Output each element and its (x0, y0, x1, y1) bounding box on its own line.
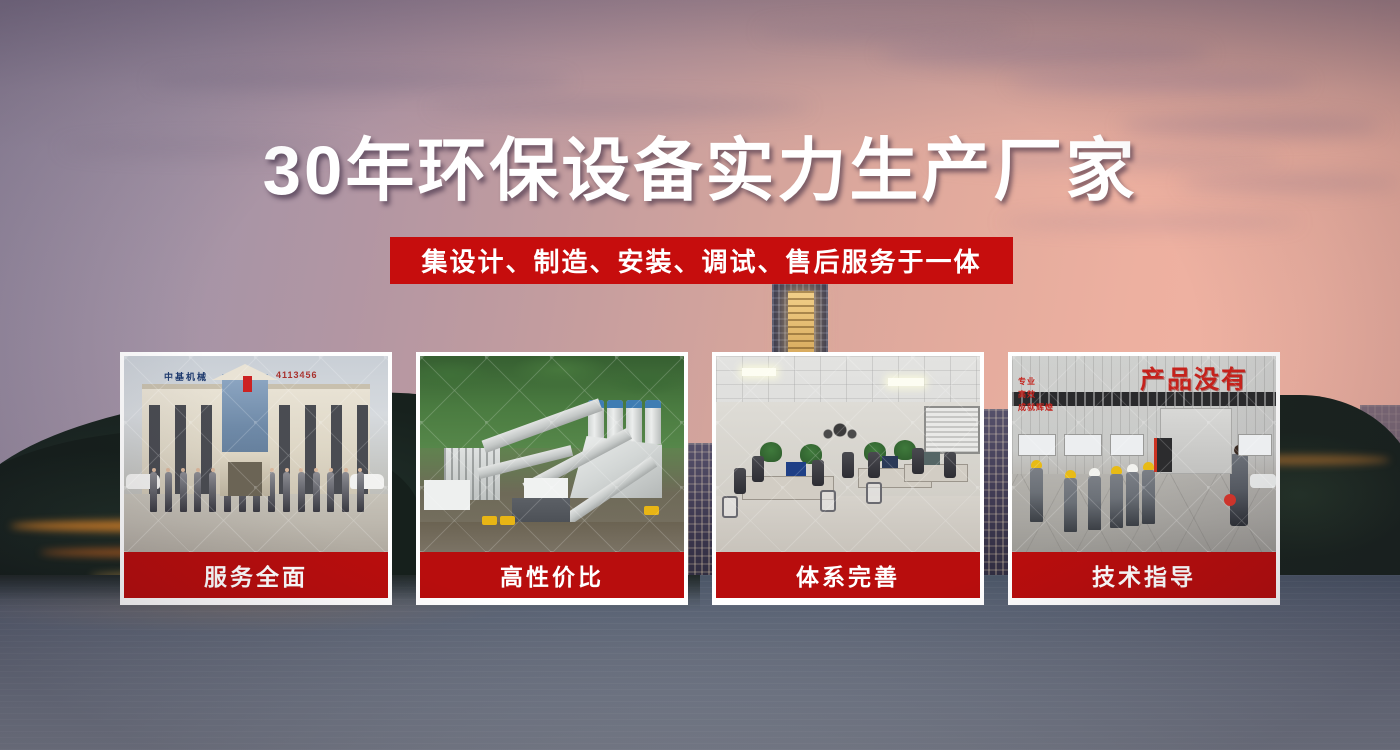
staff-member (298, 472, 305, 512)
card-caption: 服务全面 (124, 552, 388, 598)
seated-employee (812, 460, 824, 486)
worker (1088, 476, 1101, 530)
hero-banner: 30年环保设备实力生产厂家 集设计、制造、安装、调试、售后服务于一体 中基机械 … (0, 0, 1400, 750)
factory-window (1238, 434, 1272, 456)
plant-office-block (524, 478, 568, 498)
office-chair (820, 490, 836, 512)
computer-monitor (922, 452, 940, 465)
computer-monitor (786, 462, 806, 476)
red-helmet-icon (1224, 494, 1236, 506)
feature-card[interactable]: 专业 高效 成就辉煌 产品没有 (1008, 352, 1280, 605)
seated-employee (868, 452, 880, 478)
building-sign-text: 中基机械 (164, 370, 208, 383)
staff-member (150, 472, 157, 512)
wall-slogan-small-3: 成就辉煌 (1018, 403, 1054, 412)
wall-decal (820, 414, 860, 446)
subtitle-text: 集设计、制造、安装、调试、售后服务于一体 (421, 242, 981, 279)
aerial-production-plant-photo (420, 356, 684, 552)
worker (1126, 472, 1139, 526)
worker (1030, 468, 1043, 522)
card-caption: 高性价比 (420, 552, 684, 598)
excavator (482, 516, 497, 525)
seated-employee (912, 448, 924, 474)
factory-side-door (1154, 438, 1172, 472)
staff-member (180, 472, 187, 512)
factory-window (1018, 434, 1056, 456)
cloud-streak (1000, 215, 1300, 229)
card-caption: 技术指导 (1012, 552, 1276, 598)
office-floor (716, 496, 980, 552)
staff-member (194, 472, 201, 512)
seated-employee (752, 456, 764, 482)
staff-member (283, 472, 290, 512)
wall-slogan-small-1: 专业 (1018, 377, 1036, 386)
building-entrance (220, 452, 270, 496)
staff-member (357, 472, 364, 512)
worker (1064, 478, 1077, 532)
national-flag-icon (243, 376, 252, 392)
ceiling-light (888, 378, 924, 386)
factory-yard-workers-photo: 专业 高效 成就辉煌 产品没有 (1012, 356, 1276, 552)
plant-office-block (424, 480, 470, 510)
feature-card[interactable]: 中基机械 4113456 (120, 352, 392, 605)
excavator (644, 506, 659, 515)
window-blinds (924, 406, 980, 454)
card-caption: 体系完善 (716, 552, 980, 598)
factory-window (1064, 434, 1102, 456)
subtitle-band: 集设计、制造、安装、调试、售后服务于一体 (390, 237, 1013, 284)
seated-employee (842, 452, 854, 478)
supervisor (1230, 454, 1248, 526)
parked-car (1250, 474, 1276, 488)
feature-card[interactable]: 高性价比 (416, 352, 688, 605)
staff-member (165, 472, 172, 512)
office-interior-staff-photo (716, 356, 980, 552)
wall-slogan-small-2: 高效 (1018, 390, 1036, 399)
staff-member (209, 472, 216, 512)
office-chair (722, 496, 738, 518)
excavator (500, 516, 515, 525)
sky-top-shade (0, 0, 1400, 150)
ceiling-grid (716, 356, 980, 402)
company-office-building-photo: 中基机械 4113456 (124, 356, 388, 552)
page-title: 30年环保设备实力生产厂家 (0, 133, 1400, 209)
tower-lit-crown (788, 291, 814, 357)
worker (1142, 470, 1155, 524)
building-phone-text: 4113456 (276, 370, 318, 380)
feature-card-row: 中基机械 4113456 (120, 352, 1280, 605)
seated-employee (944, 452, 956, 478)
computer-monitor (882, 456, 898, 468)
plant-yard (420, 522, 684, 552)
staff-member (313, 472, 320, 512)
factory-window (1110, 434, 1144, 456)
staff-member (342, 472, 349, 512)
silo (645, 400, 661, 444)
worker (1110, 474, 1123, 528)
office-chair (866, 482, 882, 504)
wall-slogan-small: 专业 高效 成就辉煌 (1018, 376, 1054, 414)
feature-card[interactable]: 体系完善 (712, 352, 984, 605)
ceiling-light (742, 368, 776, 376)
wall-slogan-large: 产品没有 (1140, 360, 1248, 396)
seated-employee (734, 468, 746, 494)
staff-member (327, 472, 334, 512)
